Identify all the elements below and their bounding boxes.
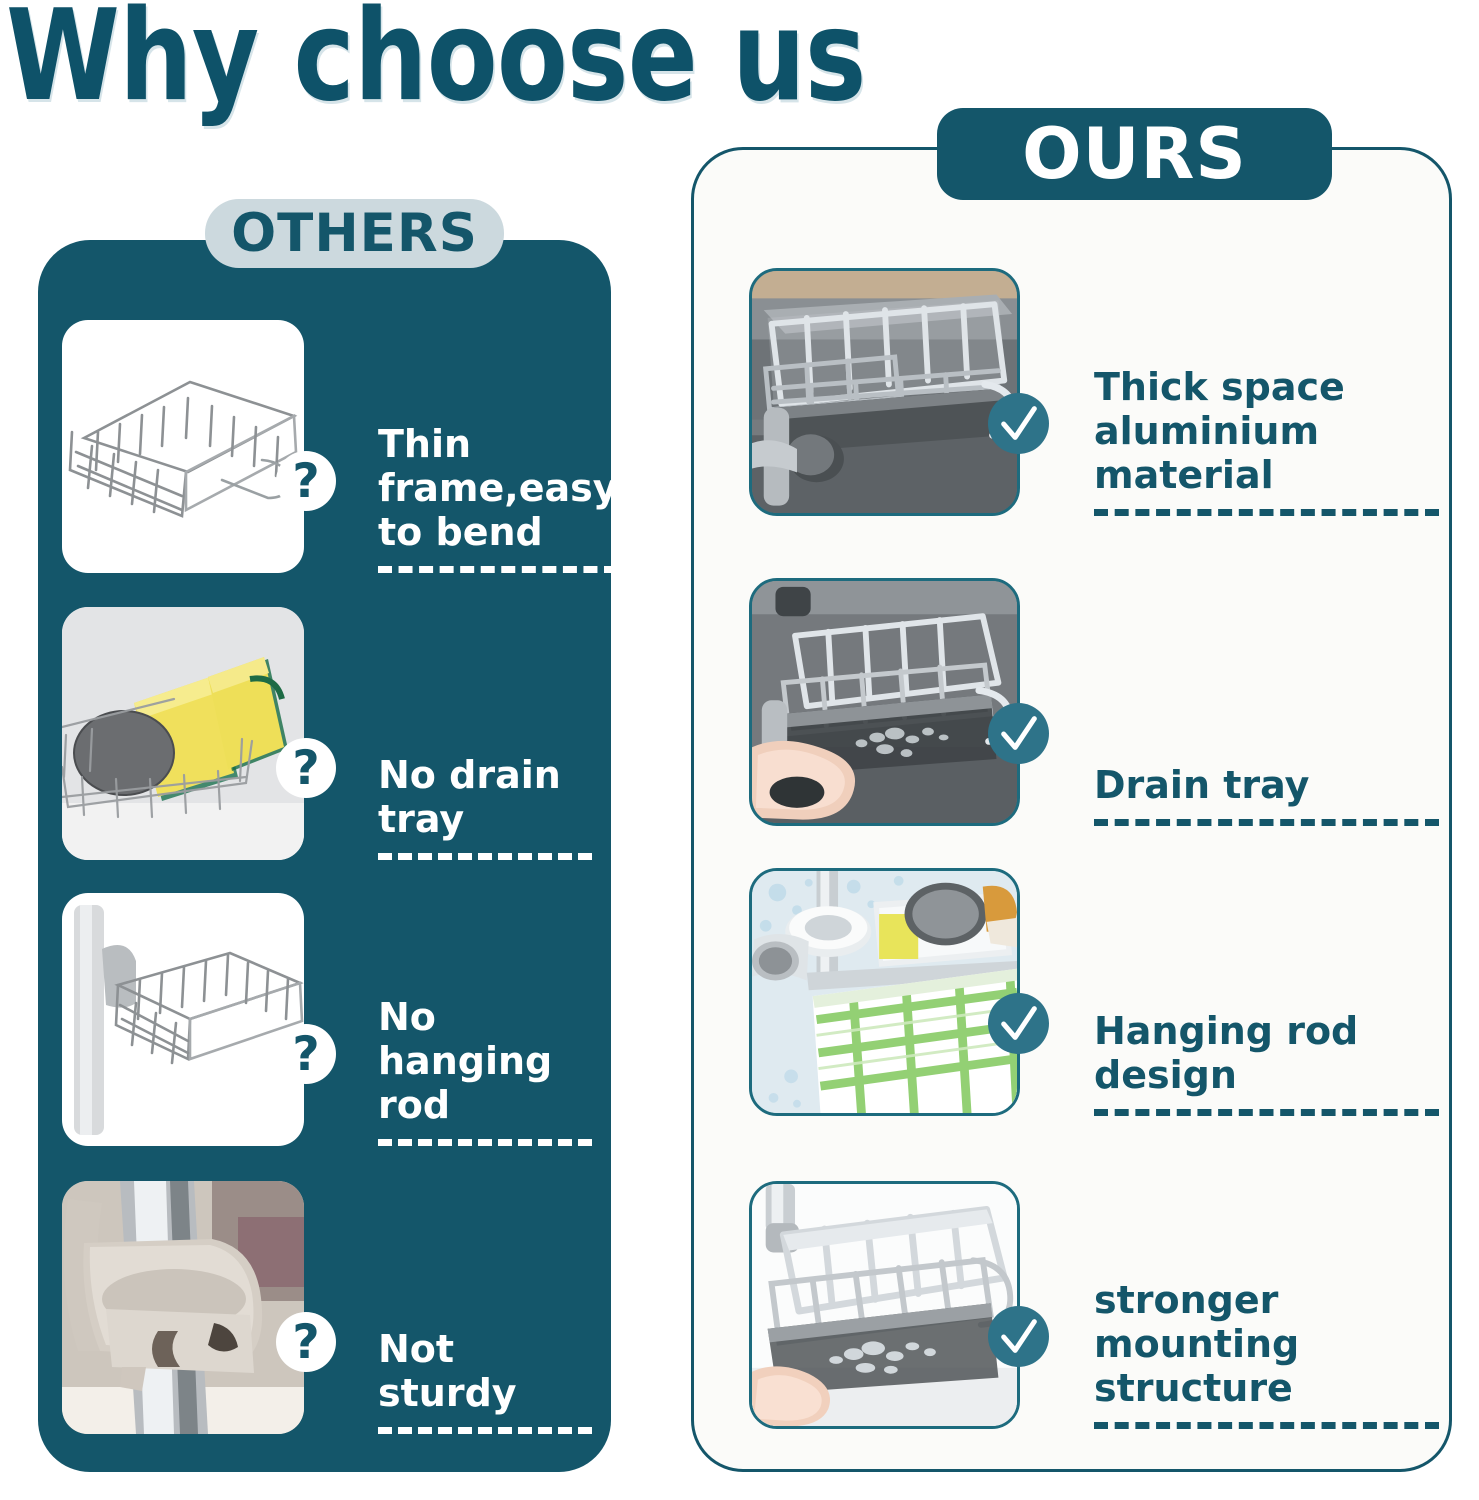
basket-no-rod-illustration (62, 893, 304, 1146)
wire-basket-with-sponges-photo (62, 607, 304, 860)
others-row-1: ? Thin frame,easy to bend (62, 320, 592, 573)
aluminium-sink-caddy-photo (749, 268, 1020, 516)
ours-label-3: Hanging rod design (1020, 868, 1439, 1116)
ours-label-4: stronger mounting structure (1020, 1181, 1439, 1429)
ours-item-label: stronger mounting structure (1094, 1278, 1439, 1410)
sponges-in-basket-illustration (62, 607, 304, 860)
ours-item-label: Drain tray (1094, 763, 1439, 807)
ours-item-label: Hanging rod design (1094, 1009, 1439, 1097)
mounting-structure-illustration (752, 1184, 1017, 1427)
drain-tray-illustration (752, 581, 1017, 824)
others-row-3: ? No hanging rod (62, 893, 592, 1146)
others-badge: OTHERS (205, 199, 504, 268)
others-label-3: ? No hanging rod (304, 893, 592, 1146)
check-icon (988, 1306, 1049, 1367)
others-row-2: ? No drain tray (62, 607, 592, 860)
divider-dashed (1094, 509, 1439, 516)
others-label-1: ? Thin frame,easy to bend (304, 320, 618, 573)
ours-item-label: Thick space aluminium material (1094, 365, 1439, 497)
broken-clamp-illustration (62, 1181, 304, 1434)
ours-label-2: Drain tray (1020, 578, 1439, 826)
check-icon (988, 993, 1049, 1054)
check-glyph (996, 1001, 1042, 1047)
page-title: Why choose us (6, 0, 866, 129)
divider-dashed (1094, 819, 1439, 826)
ours-row-1: Thick space aluminium material (749, 268, 1439, 516)
broken-plastic-clamp-photo (62, 1181, 304, 1434)
ours-row-3: Hanging rod design (749, 868, 1439, 1116)
mounting-structure-photo (749, 1181, 1020, 1429)
thin-wire-basket-photo (62, 320, 304, 573)
others-item-label: No hanging rod (378, 995, 592, 1127)
caddy-drain-tray-photo (749, 578, 1020, 826)
question-mark-icon: ? (276, 451, 336, 511)
wire-basket-no-rod-photo (62, 893, 304, 1146)
ours-label-1: Thick space aluminium material (1020, 268, 1439, 516)
divider-dashed (378, 566, 618, 573)
hanging-rod-towel-photo (749, 868, 1020, 1116)
others-row-4: ? Not sturdy (62, 1181, 592, 1434)
divider-dashed (1094, 1422, 1439, 1429)
ours-row-4: stronger mounting structure (749, 1181, 1439, 1429)
hanging-towel-illustration (752, 871, 1017, 1114)
check-icon (988, 393, 1049, 454)
check-glyph (996, 711, 1042, 757)
check-glyph (996, 1314, 1042, 1360)
aluminium-caddy-illustration (752, 271, 1017, 514)
others-label-4: ? Not sturdy (304, 1181, 592, 1434)
ours-row-2: Drain tray (749, 578, 1439, 826)
others-label-2: ? No drain tray (304, 607, 592, 860)
question-mark-icon: ? (276, 1312, 336, 1372)
divider-dashed (378, 853, 592, 860)
wire-basket-illustration (62, 320, 304, 573)
question-mark-icon: ? (276, 738, 336, 798)
others-item-label: No drain tray (378, 753, 592, 841)
check-icon (988, 703, 1049, 764)
others-item-label: Thin frame,easy to bend (378, 422, 618, 554)
ours-badge: OURS (937, 108, 1332, 200)
divider-dashed (378, 1139, 592, 1146)
check-glyph (996, 401, 1042, 447)
others-item-label: Not sturdy (378, 1327, 592, 1415)
question-mark-icon: ? (276, 1024, 336, 1084)
divider-dashed (378, 1427, 592, 1434)
divider-dashed (1094, 1109, 1439, 1116)
